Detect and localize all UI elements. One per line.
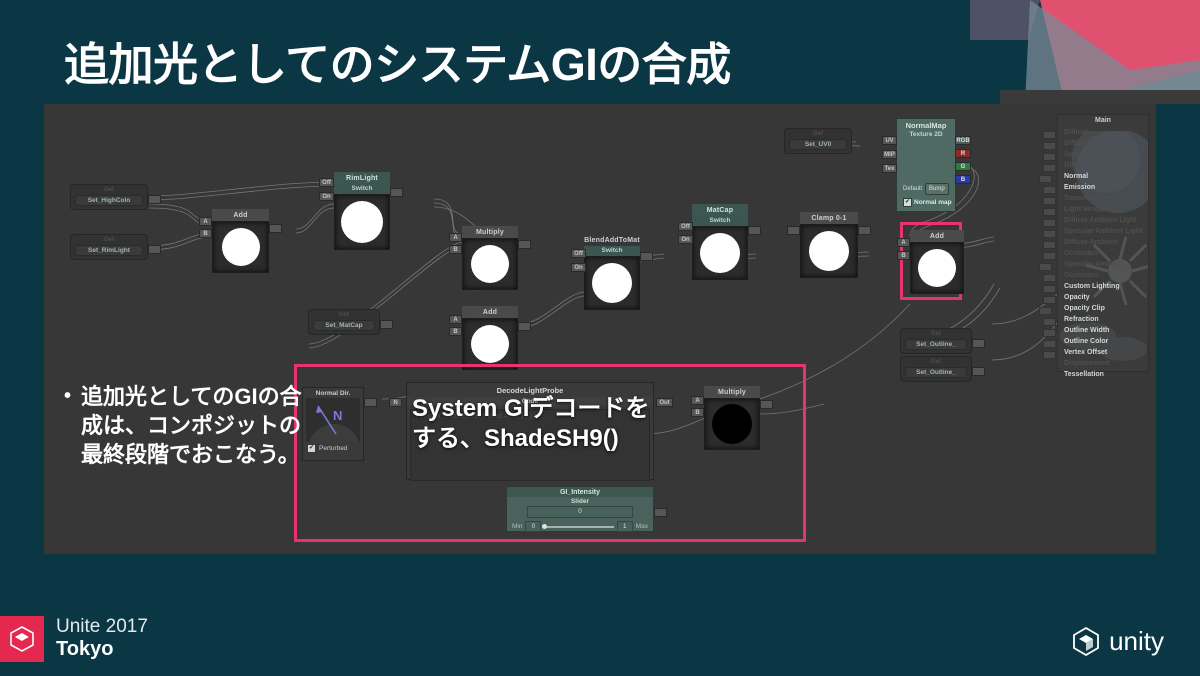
bullet-list: • 追加光としてのGIの合成は、コンポジットの最終段階でおこなう。	[64, 382, 304, 469]
inspector-port-stub[interactable]	[1043, 186, 1056, 194]
unity-cube-badge	[0, 616, 44, 662]
port-rgb[interactable]: RGB	[955, 136, 971, 145]
inspector-port-stub[interactable]	[1043, 219, 1056, 227]
inspector-port-stub[interactable]	[1043, 285, 1056, 293]
inspector-port-stub[interactable]	[1043, 197, 1056, 205]
inspector-item-emission[interactable]: Emission	[1058, 182, 1148, 193]
inspector-port-stub[interactable]	[1043, 329, 1056, 337]
port-stub	[518, 240, 531, 249]
node-subtitle: Switch	[692, 216, 748, 226]
inspector-item-tessellation[interactable]: Tessellation	[1058, 369, 1148, 380]
node-title: Multiply	[462, 226, 518, 238]
port-stub	[760, 400, 773, 409]
port-on[interactable]: On	[319, 192, 334, 201]
preview-sphere	[809, 231, 849, 271]
inspector-port-stub[interactable]	[1043, 241, 1056, 249]
port-stub	[654, 508, 667, 517]
inspector-item-specular-ambient-light[interactable]: Specular Ambient Light	[1058, 226, 1148, 237]
inspector-port-stub[interactable]	[1043, 131, 1056, 139]
inspector-port-stub[interactable]	[1043, 318, 1056, 326]
get-node-value[interactable]: Set_Outline_	[905, 339, 967, 350]
preview-sphere	[700, 233, 740, 273]
port-in-a[interactable]: A	[897, 238, 910, 247]
get-node-outline-1[interactable]: Get Set_Outline_	[900, 328, 972, 354]
get-node-rim-light[interactable]: Get Set_RimLight	[70, 234, 148, 260]
inspector-item-outline-color[interactable]: Outline Color	[1058, 336, 1148, 347]
check-icon[interactable]: ✔	[307, 444, 316, 453]
slider-max-value[interactable]: 1	[617, 521, 633, 532]
inspector-item-light-wrapping[interactable]: Light Wrapping	[1058, 204, 1148, 215]
node-normal-dir[interactable]: Normal Dir. N ✔ Perturbed	[302, 387, 364, 461]
slider-value[interactable]: 0	[527, 506, 633, 518]
port-in-a[interactable]: A	[691, 396, 704, 405]
inspector-item-opacity[interactable]: Opacity	[1058, 292, 1148, 303]
get-node-matcap[interactable]: Get Set_MatCap	[308, 309, 380, 335]
node-title: Add	[910, 230, 964, 242]
node-add-1[interactable]: Add	[212, 209, 269, 273]
node-title: Add	[212, 209, 269, 221]
node-subtitle: Slider	[507, 497, 653, 506]
inspector-item-refraction[interactable]: Refraction	[1058, 314, 1148, 325]
node-body	[704, 398, 760, 450]
node-add-2[interactable]: Add	[462, 306, 518, 370]
node-body	[910, 242, 964, 294]
get-node-outline-2[interactable]: Get Set_Outline_	[900, 356, 972, 382]
inspector-item-specular[interactable]: Specular	[1058, 149, 1148, 160]
preview-sphere	[471, 245, 509, 283]
get-node-value[interactable]: Set_RimLight	[75, 245, 143, 256]
inspector-item-displacement[interactable]: Displacement	[1058, 358, 1148, 369]
event-city: Tokyo	[56, 638, 148, 661]
node-body	[462, 238, 518, 290]
port-in-b[interactable]: B	[449, 245, 462, 254]
port-in-b[interactable]: B	[199, 229, 212, 238]
get-node-label: Get	[789, 131, 847, 138]
node-multiply-2[interactable]: Multiply	[704, 386, 760, 450]
port-stub	[364, 398, 377, 407]
slider-max-label: Max	[636, 523, 648, 530]
normal-map-checkbox-row[interactable]: ✔ Normal map	[903, 198, 952, 207]
port-off[interactable]: Off	[571, 249, 586, 258]
port-in-b[interactable]: B	[897, 251, 910, 260]
port-stub	[972, 367, 985, 376]
inspector-port-stub[interactable]	[1043, 296, 1056, 304]
node-body	[692, 226, 748, 280]
port-n[interactable]: N	[389, 398, 402, 407]
inspector-port-stub[interactable]	[1043, 164, 1056, 172]
bullet-text: 追加光としてのGIの合成は、コンポジットの最終段階でおこなう。	[81, 382, 304, 469]
slider-min-label: Min	[512, 523, 522, 530]
inspector-item-outline-width[interactable]: Outline Width	[1058, 325, 1148, 336]
inspector-port-stub[interactable]	[1043, 351, 1056, 359]
get-node-label: Get	[905, 331, 967, 338]
normal-map-checkbox-label: Normal map	[914, 199, 952, 206]
unity-logo: unity	[1071, 626, 1164, 656]
preview-sphere	[712, 404, 752, 444]
node-title: BlendAddToMat	[584, 234, 640, 246]
inspector-item-transmission[interactable]: Transmission	[1058, 193, 1148, 204]
port-stub	[748, 226, 761, 235]
port-stub	[518, 322, 531, 331]
node-body	[462, 318, 518, 370]
node-blendaddtomat-switch[interactable]: BlendAddToMat Switch	[584, 234, 640, 310]
inspector-item-specular-ambient-occlusion[interactable]: Specular Ambient Occlusion	[1058, 259, 1148, 281]
node-body	[584, 256, 640, 310]
port-stub	[640, 252, 653, 261]
inspector-item-gloss[interactable]: Gloss	[1058, 160, 1148, 171]
node-title: GI_Intensity	[507, 487, 653, 497]
bullet-marker: •	[64, 382, 71, 469]
node-subtitle: Switch	[334, 184, 390, 194]
normal-dir-preview: N	[306, 398, 360, 442]
inspector-item-opacity-clip[interactable]: Opacity Clip	[1058, 303, 1148, 314]
unity-cube-icon	[9, 625, 35, 653]
default-dropdown[interactable]: Bump	[925, 183, 949, 195]
callout-text: System GIデコードをする、ShadeSH9()	[412, 394, 662, 454]
inspector-title: Main	[1058, 115, 1148, 127]
inspector-item-diffuse-ambient-light[interactable]: Diffuse Ambient Light	[1058, 215, 1148, 226]
node-title: RimLight	[334, 172, 390, 184]
port-r[interactable]: R	[955, 149, 971, 158]
inspector-port-stub[interactable]	[1043, 142, 1056, 150]
node-body	[800, 224, 858, 278]
inspector-port-stub[interactable]	[1043, 274, 1056, 282]
node-clamp[interactable]: Clamp 0-1	[800, 212, 858, 278]
perturbed-checkbox-row[interactable]: ✔ Perturbed	[303, 442, 363, 455]
get-node-label: Get	[75, 187, 143, 194]
port-stub	[148, 245, 161, 254]
port-b[interactable]: B	[955, 175, 971, 184]
inspector-port-stub[interactable]	[1043, 208, 1056, 216]
inspector-item-diffuse-ambient-occlusion[interactable]: Diffuse Ambient Occlusion	[1058, 237, 1148, 259]
shader-graph-canvas[interactable]: Get Set_HighColo Get Set_RimLight Add A …	[44, 104, 1156, 554]
inspector-item-vertex-offset[interactable]: Vertex Offset	[1058, 347, 1148, 358]
port-on[interactable]: On	[678, 235, 693, 244]
node-multiply-1[interactable]: Multiply	[462, 226, 518, 290]
default-label: Default	[903, 186, 922, 192]
node-gi-intensity[interactable]: GI_Intensity Slider 0 Min 0 1 Max	[506, 486, 654, 532]
inspector-item-diffuse[interactable]: Diffuse	[1058, 127, 1148, 138]
inspector-item-normal[interactable]: Normal	[1058, 171, 1148, 182]
node-title: Add	[462, 306, 518, 318]
port-g[interactable]: G	[955, 162, 971, 171]
inspector-port-stub[interactable]	[1043, 252, 1056, 260]
port-stub	[972, 339, 985, 348]
node-rimlight-switch[interactable]: RimLight Switch	[334, 172, 390, 250]
slider-track[interactable]	[544, 526, 613, 528]
inspector-port-stub[interactable]	[1043, 230, 1056, 238]
port-tex[interactable]: Tex	[882, 164, 897, 173]
node-title: MatCap	[692, 204, 748, 216]
get-node-label: Get	[75, 237, 143, 244]
port-stub	[390, 188, 403, 197]
node-add-3[interactable]: Add	[910, 230, 964, 294]
inspector-panel[interactable]: Main Diffuse Diffuse Power Specular Glos…	[1057, 114, 1149, 372]
preview-sphere	[918, 249, 956, 287]
port-in-b[interactable]: B	[691, 408, 704, 417]
port-stub	[787, 226, 800, 235]
get-node-uv0[interactable]: Get Set_UV0	[784, 128, 852, 154]
preview-sphere	[471, 325, 509, 363]
check-icon[interactable]: ✔	[903, 198, 912, 207]
port-stub	[858, 226, 871, 235]
get-node-value[interactable]: Set_UV0	[789, 139, 847, 150]
get-node-high-color[interactable]: Get Set_HighColo	[70, 184, 148, 210]
port-in-a[interactable]: A	[449, 315, 462, 324]
unity-logo-icon	[1071, 626, 1101, 656]
port-off[interactable]: Off	[678, 222, 693, 231]
slider-min-value[interactable]: 0	[525, 521, 541, 532]
node-matcap-switch[interactable]: MatCap Switch	[692, 204, 748, 280]
port-stub	[269, 224, 282, 233]
port-in-b[interactable]: B	[449, 327, 462, 336]
inspector-port-stub[interactable]	[1039, 263, 1052, 271]
inspector-item-custom-lighting[interactable]: Custom Lighting	[1058, 281, 1148, 292]
port-stub	[148, 195, 161, 204]
port-in-a[interactable]: A	[199, 217, 212, 226]
get-node-value[interactable]: Set_MatCap	[313, 320, 375, 331]
slide-footer: Unite 2017 Tokyo unity	[0, 606, 1200, 676]
node-title: Normal Dir.	[303, 388, 363, 398]
slider-knob[interactable]	[542, 524, 547, 529]
preview-sphere	[592, 263, 632, 303]
svg-text:N: N	[333, 408, 342, 423]
node-body	[334, 194, 390, 250]
slider-row[interactable]: Min 0 1 Max	[507, 518, 653, 534]
slide-root: 追加光としてのシステムGIの合成	[0, 0, 1200, 676]
port-uv[interactable]: UV	[882, 136, 897, 145]
inspector-port-stub[interactable]	[1039, 175, 1052, 183]
node-normalmap-texture2d[interactable]: NormalMap Texture 2D Default Bump ✔ Norm…	[896, 118, 956, 212]
port-off[interactable]: Off	[319, 178, 334, 187]
get-node-label: Get	[905, 359, 967, 366]
inspector-port-stub[interactable]	[1039, 307, 1052, 315]
inspector-port-stub[interactable]	[1043, 153, 1056, 161]
inspector-port-stub[interactable]	[1043, 340, 1056, 348]
node-body	[212, 221, 269, 273]
port-mip[interactable]: MIP	[882, 150, 897, 159]
get-node-label: Get	[313, 312, 375, 319]
preview-sphere	[341, 201, 383, 243]
preview-sphere	[222, 228, 260, 266]
inspector-item-diffuse-power[interactable]: Diffuse Power	[1058, 138, 1148, 149]
event-name: Unite 2017	[56, 616, 148, 638]
node-subtitle: Texture 2D	[897, 130, 955, 140]
port-on[interactable]: On	[571, 263, 586, 272]
get-node-value[interactable]: Set_HighColo	[75, 195, 143, 206]
get-node-value[interactable]: Set_Outline_	[905, 367, 967, 378]
list-item: • 追加光としてのGIの合成は、コンポジットの最終段階でおこなう。	[64, 382, 304, 469]
port-stub	[380, 320, 393, 329]
decorative-corner-graphic	[970, 0, 1200, 104]
unity-wordmark: unity	[1109, 628, 1164, 654]
node-subtitle: Switch	[584, 246, 640, 256]
port-in-a[interactable]: A	[449, 233, 462, 242]
page-title: 追加光としてのシステムGIの合成	[64, 28, 731, 93]
event-branding: Unite 2017 Tokyo	[56, 616, 148, 661]
perturbed-label: Perturbed	[319, 445, 348, 452]
node-title: Clamp 0-1	[800, 212, 858, 224]
node-title: Multiply	[704, 386, 760, 398]
node-title: NormalMap	[897, 119, 955, 130]
